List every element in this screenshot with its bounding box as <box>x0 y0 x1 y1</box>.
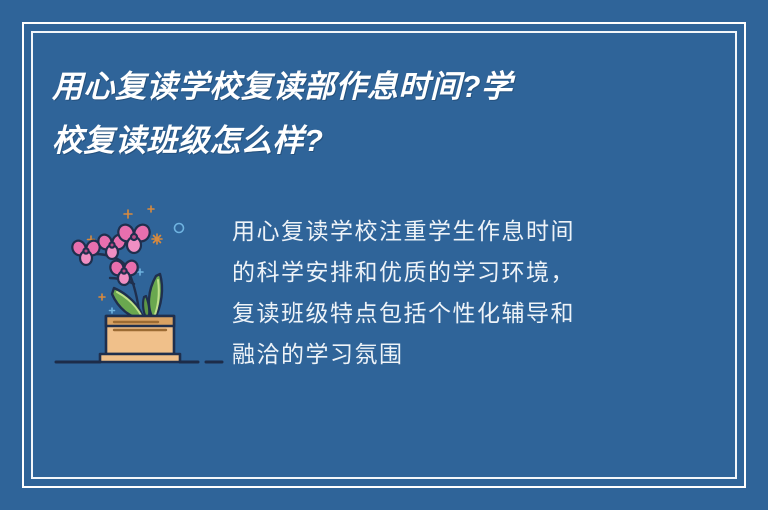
page-title-line-1: 用心复读学校复读部作息时间?学 <box>52 60 612 114</box>
body-line-4: 融洽的学习氛围 <box>232 335 652 376</box>
flower-pot <box>100 316 180 362</box>
page-title-line-2: 校复读班级怎么样? <box>52 114 612 168</box>
body-line-2: 的科学安排和优质的学习环境， <box>232 253 652 294</box>
page-title: 用心复读学校复读部作息时间?学 校复读班级怎么样? <box>52 60 612 168</box>
poster-canvas: 用心复读学校复读部作息时间?学 校复读班级怎么样? 用心复读学校注重学生作息时间… <box>0 0 768 510</box>
body-paragraph: 用心复读学校注重学生作息时间 的科学安排和优质的学习环境， 复读班级特点包括个性… <box>232 212 652 376</box>
body-line-3: 复读班级特点包括个性化辅导和 <box>232 294 652 335</box>
body-line-1: 用心复读学校注重学生作息时间 <box>232 212 652 253</box>
potted-orchid-illustration <box>50 196 230 376</box>
